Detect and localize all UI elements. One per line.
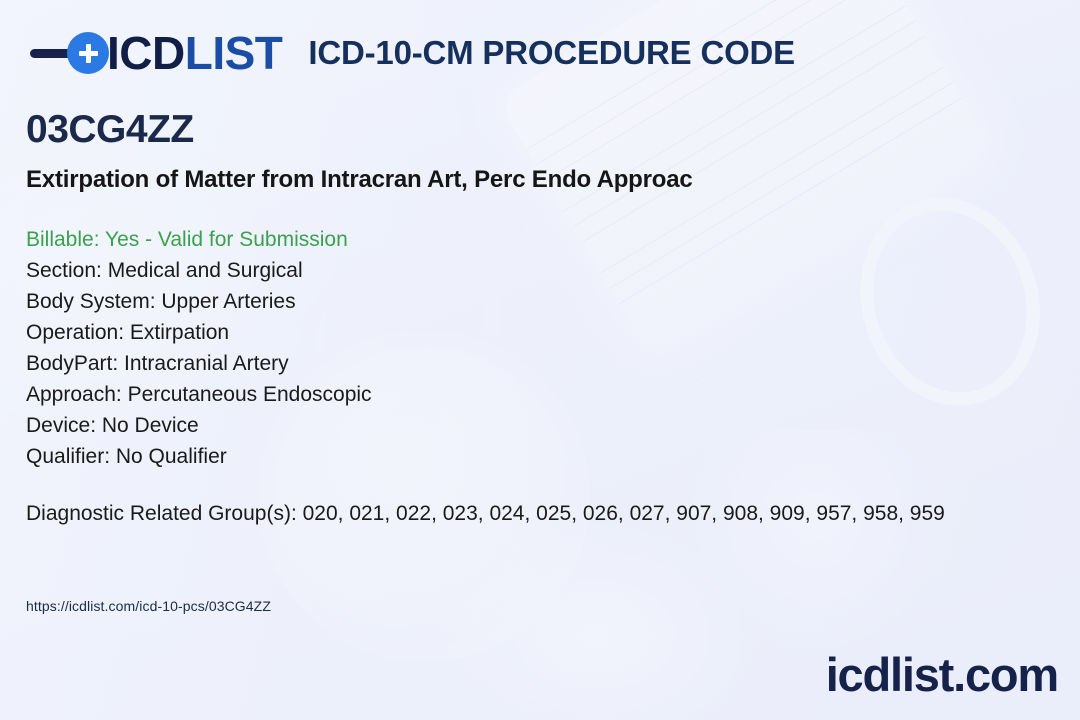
detail-line: Body System: Upper Arteries [26, 286, 1066, 317]
logo-wordmark: ICDLIST [107, 30, 282, 76]
logo-word-list: LIST [185, 27, 283, 79]
procedure-code: 03CG4ZZ [26, 110, 194, 149]
diagnostic-related-groups: Diagnostic Related Group(s): 020, 021, 0… [26, 500, 945, 528]
detail-line: Billable: Yes - Valid for Submission [26, 224, 1066, 255]
detail-line: Operation: Extirpation [26, 317, 1066, 348]
detail-line: Section: Medical and Surgical [26, 255, 1066, 286]
icd-code-card: ICDLIST ICD-10-CM PROCEDURE CODE 03CG4ZZ… [0, 0, 1080, 720]
detail-line: Device: No Device [26, 410, 1066, 441]
logo-word-icd: ICD [107, 27, 185, 79]
detail-line: Qualifier: No Qualifier [26, 441, 1066, 472]
source-url[interactable]: https://icdlist.com/icd-10-pcs/03CG4ZZ [26, 598, 271, 614]
detail-line: BodyPart: Intracranial Artery [26, 348, 1066, 379]
detail-list: Billable: Yes - Valid for SubmissionSect… [26, 224, 1066, 472]
page-title: ICD-10-CM PROCEDURE CODE [308, 34, 795, 72]
brand-footer: icdlist.com [826, 651, 1058, 698]
background-blob-bottom [430, 520, 760, 720]
procedure-description: Extirpation of Matter from Intracran Art… [26, 166, 693, 194]
plus-icon [67, 32, 109, 74]
header: ICDLIST ICD-10-CM PROCEDURE CODE [0, 22, 1080, 84]
icdlist-logo[interactable]: ICDLIST [30, 30, 282, 76]
detail-line: Approach: Percutaneous Endoscopic [26, 379, 1066, 410]
